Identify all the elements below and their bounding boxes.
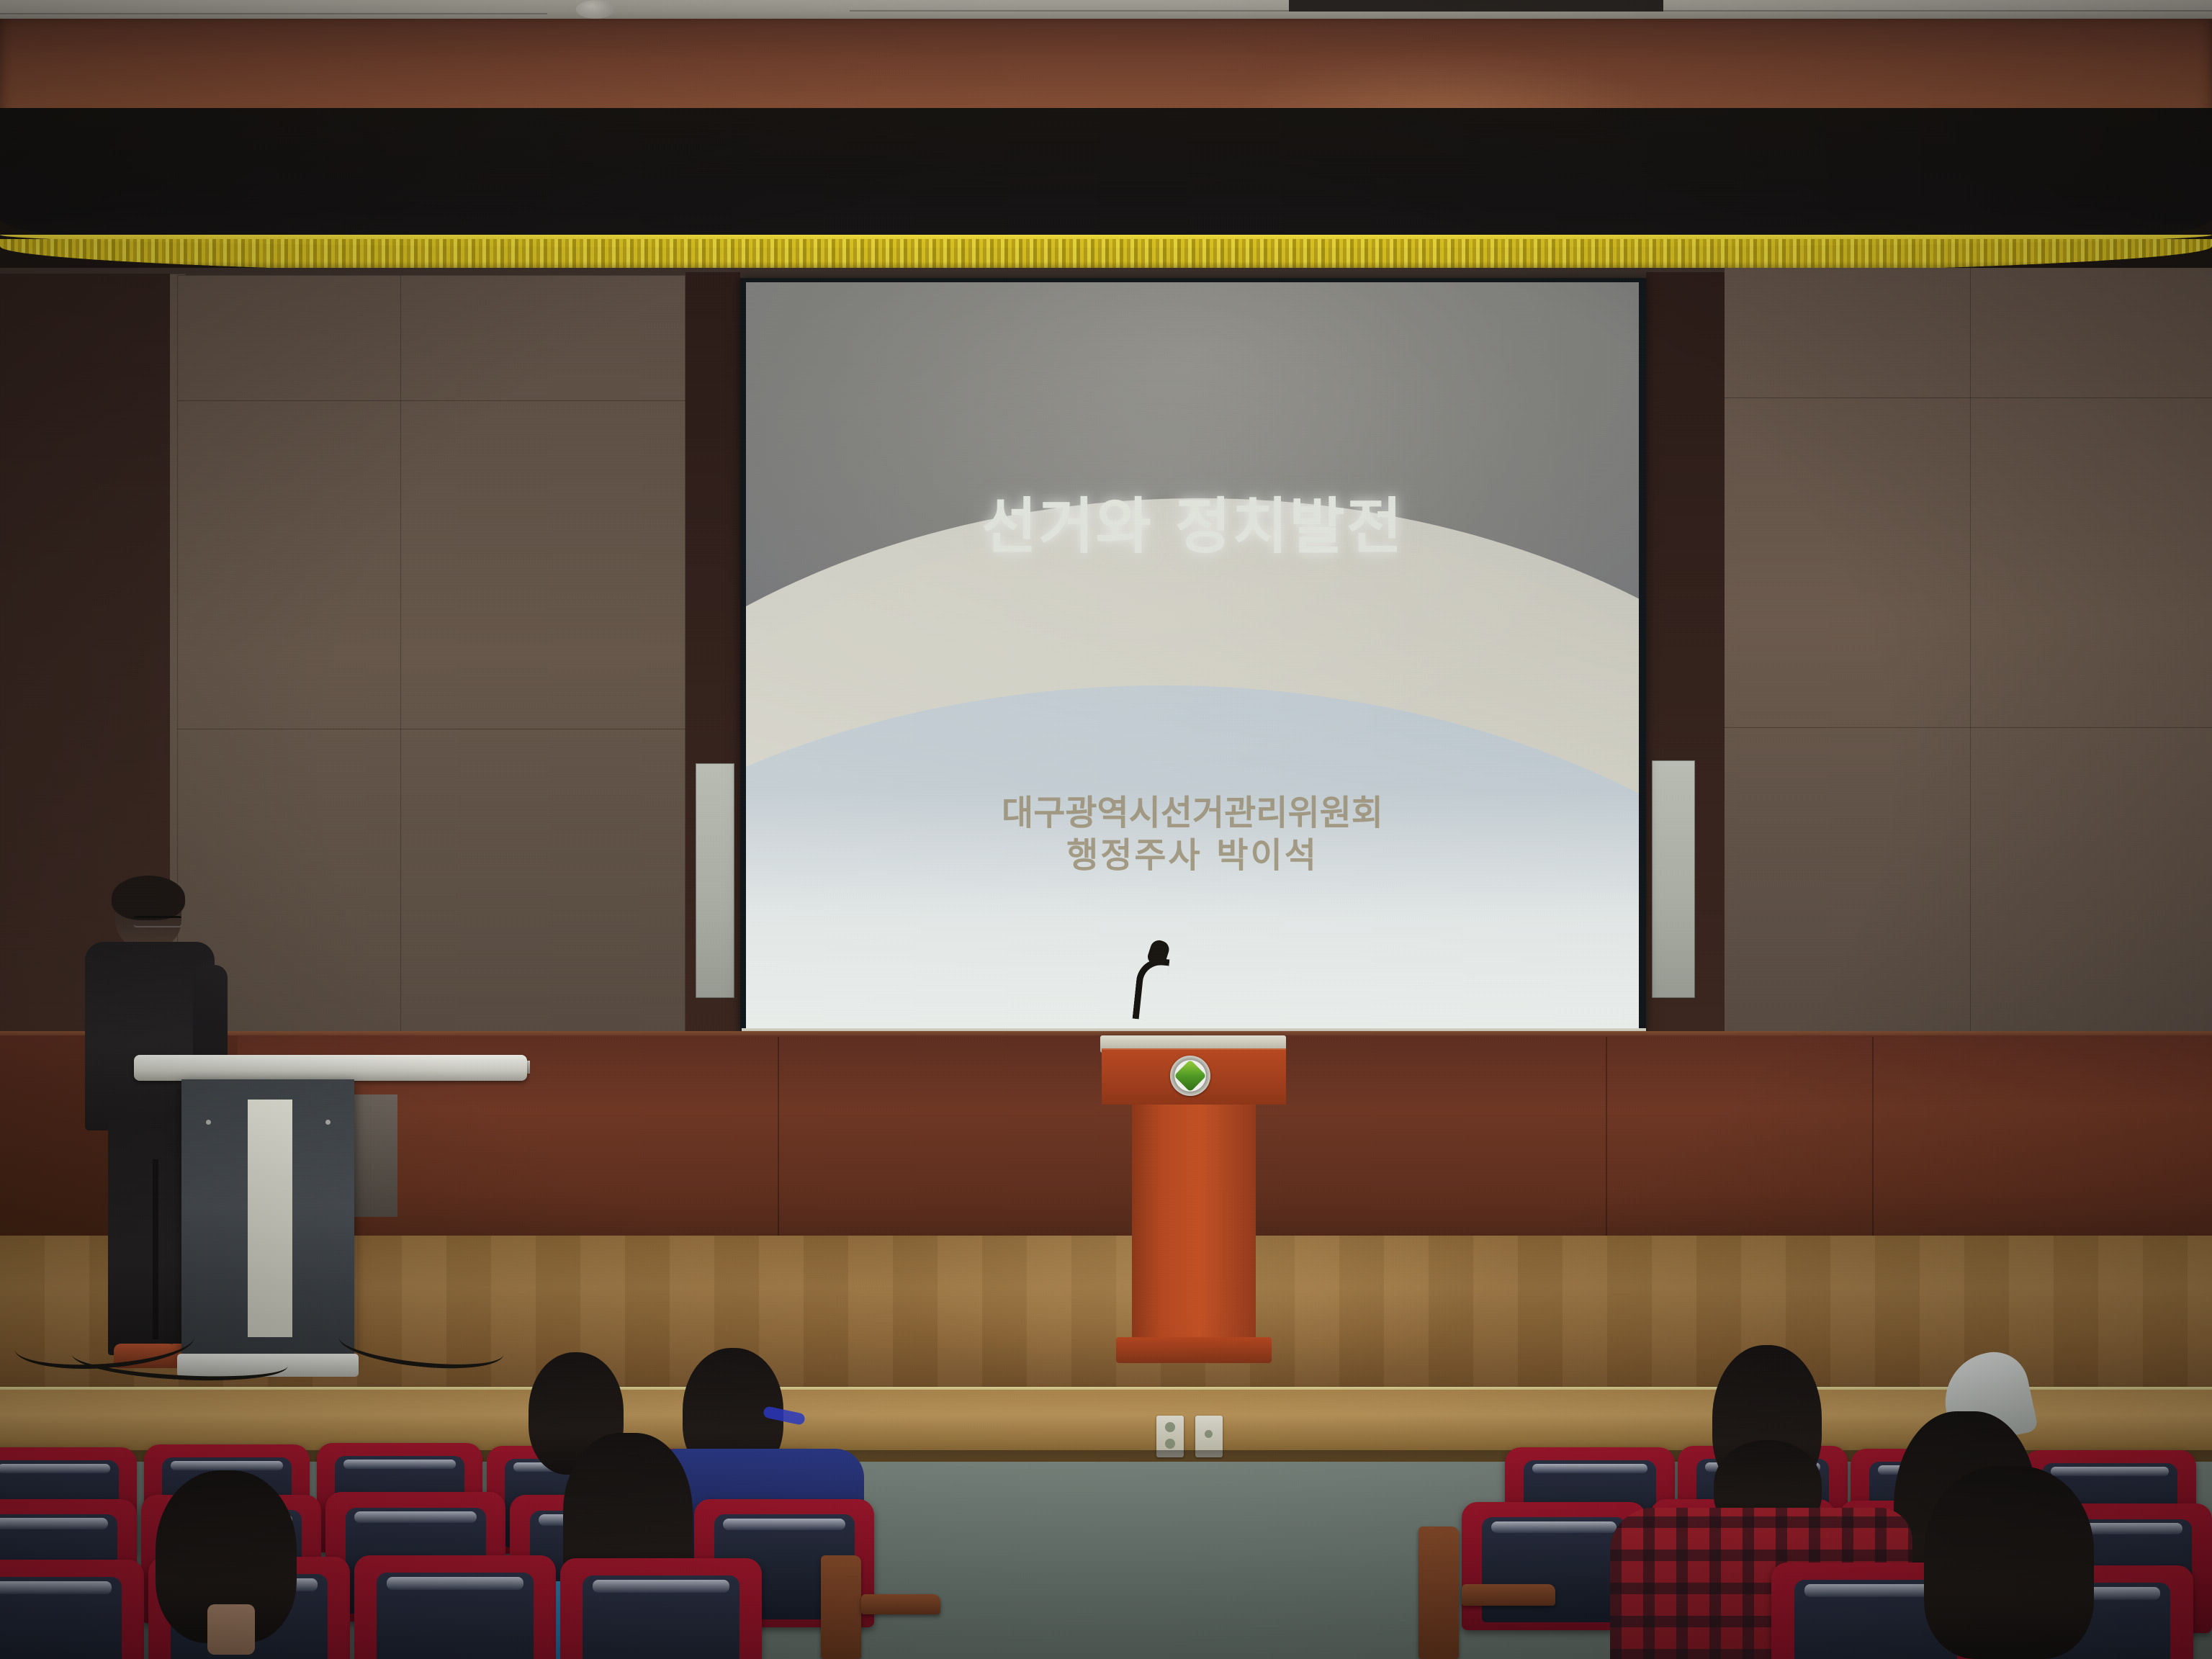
screen-left-side-panel [696, 763, 734, 998]
presenter-leg-gap [153, 1159, 158, 1339]
wainscot-seam [1872, 1037, 1874, 1243]
slide-subtitle-line-1: 대구광역시선거관리위원회 [746, 792, 1639, 835]
wall-seam [400, 275, 401, 1037]
audience-neck [207, 1604, 255, 1655]
slide-subtitle-line-2: 행정주사 박이석 [746, 835, 1639, 877]
presenter-hair [112, 876, 185, 920]
seat-armrest [1462, 1584, 1555, 1606]
seat-armrest [821, 1555, 861, 1659]
outlet-socket-icon [1165, 1439, 1175, 1449]
slide-title: 선거와 정치발전 [746, 478, 1639, 565]
screen-right-side-panel [1652, 760, 1695, 998]
wainscot-seam [1606, 1037, 1607, 1243]
wall-seam [177, 729, 685, 729]
projection-screen: 선거와 정치발전 대구광역시선거관리위원회 행정주사 박이석 [746, 282, 1639, 1028]
seat[interactable] [560, 1558, 762, 1659]
podium-column [1132, 1105, 1256, 1342]
eyeglasses-icon [134, 916, 181, 927]
auditorium-presentation-photo: 선거와 정치발전 대구광역시선거관리위원회 행정주사 박이석 [0, 0, 2212, 1659]
seat[interactable] [0, 1560, 144, 1659]
lectern-fastener [206, 1120, 211, 1125]
podium-base [1116, 1337, 1272, 1363]
lectern-fastener [325, 1120, 331, 1125]
outlet-socket-icon [1165, 1422, 1175, 1432]
wall-panel-left [177, 275, 685, 1037]
lectern-side-shelf [354, 1094, 397, 1217]
jack-port-icon [1205, 1430, 1213, 1438]
ceiling-recess [1289, 0, 1663, 12]
wall-seam [177, 400, 685, 401]
slide-subtitle: 대구광역시선거관리위원회 행정주사 박이석 [746, 792, 1639, 876]
wainscot-seam [778, 1037, 779, 1243]
audience-head [1924, 1466, 2094, 1659]
seat-armrest [1419, 1527, 1459, 1659]
seat-armrest [861, 1594, 940, 1614]
lectern-worktop[interactable] [134, 1055, 527, 1081]
ceiling-fixture-knob [576, 0, 615, 19]
podium-emblem-icon [1170, 1056, 1210, 1096]
wall-seam [1725, 727, 2212, 728]
wall-panel-right [1725, 268, 2212, 1053]
lectern-front-stripe [248, 1100, 292, 1337]
wall-seam [1970, 268, 1971, 1037]
wall-seam [1725, 397, 2212, 398]
seat[interactable] [354, 1555, 556, 1659]
ceiling-seam [0, 13, 547, 14]
